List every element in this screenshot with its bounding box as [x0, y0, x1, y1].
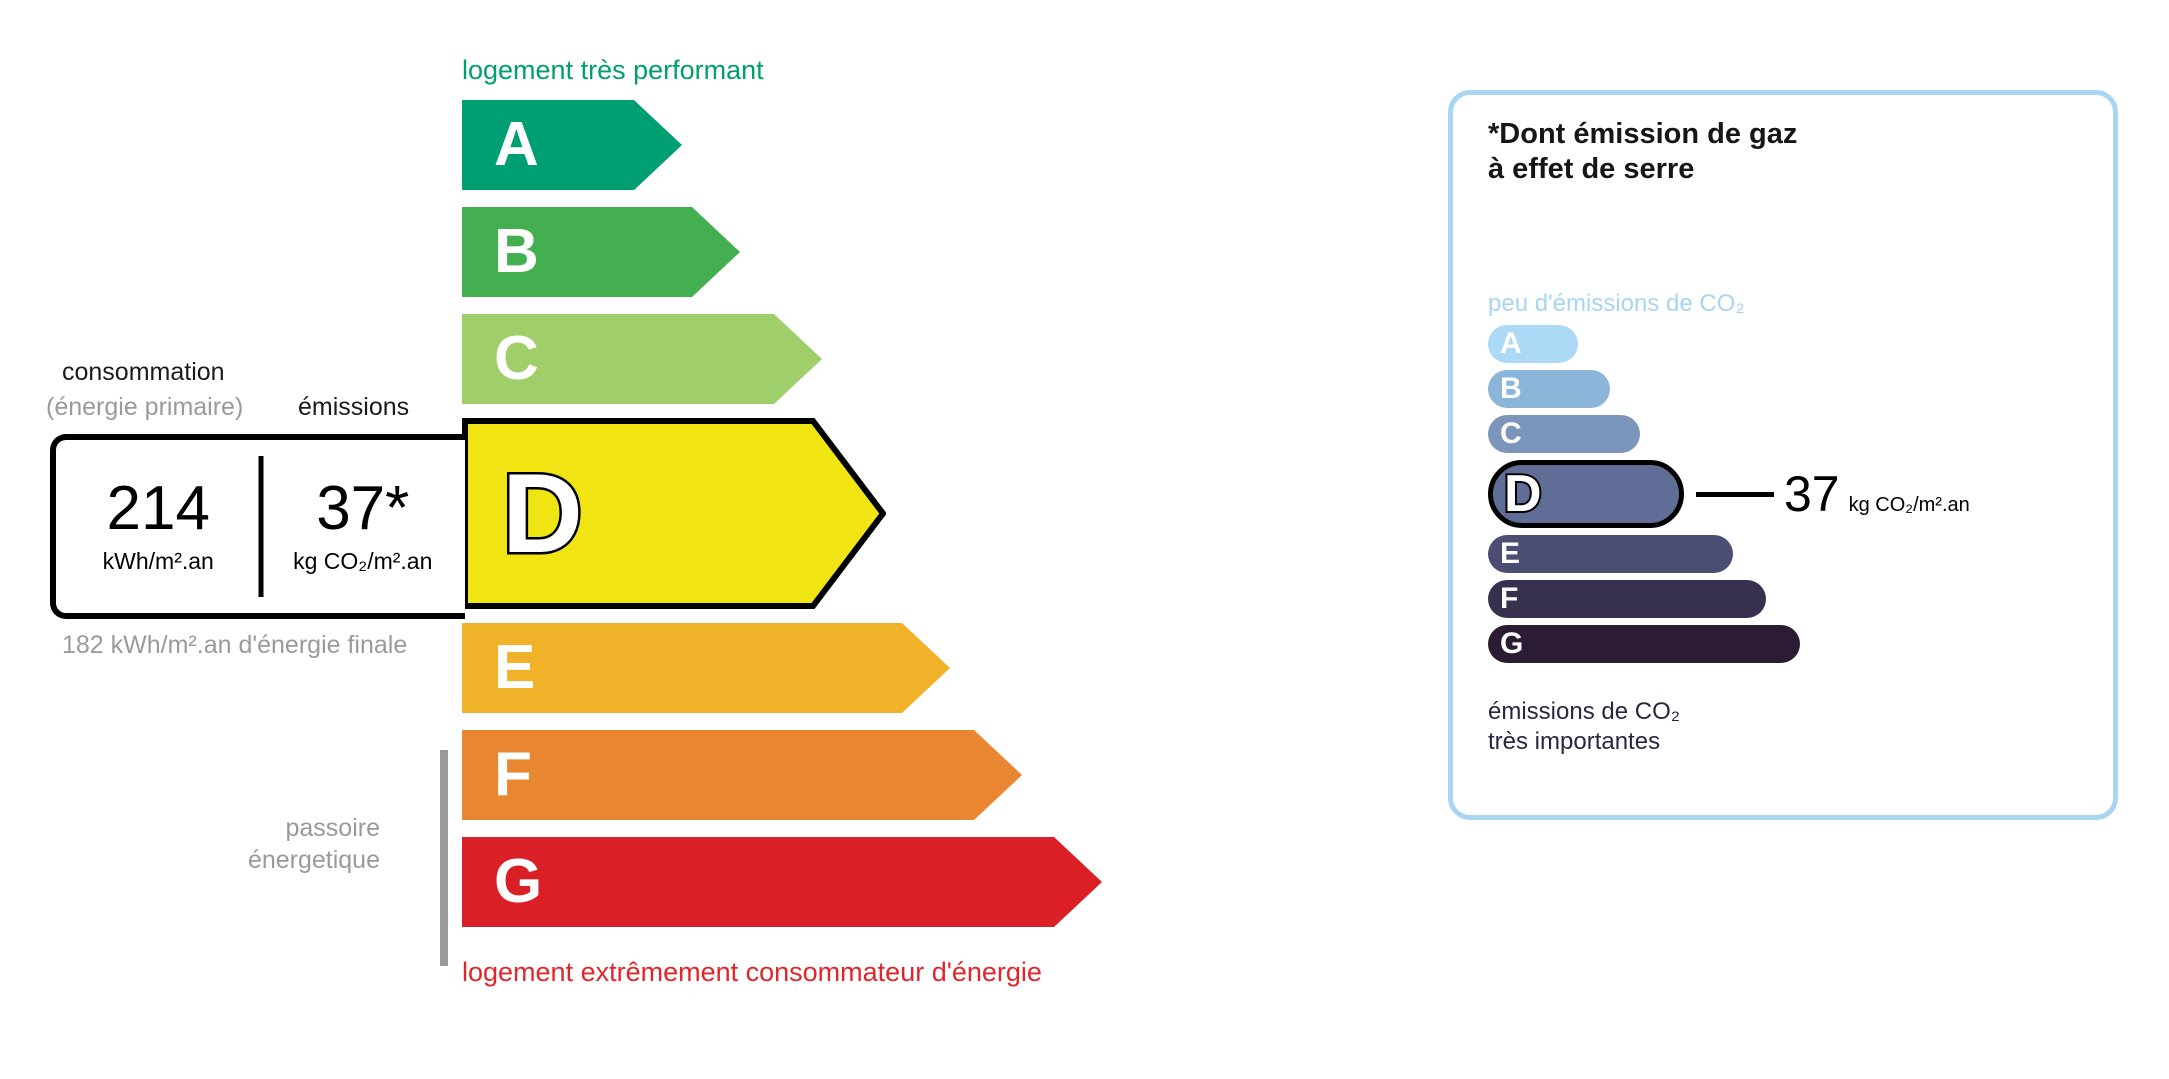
energy-class-letter-G: G [494, 851, 542, 913]
co2-bar-E [1488, 535, 1733, 573]
co2-class-letter-C: C [1500, 419, 1522, 449]
energy-class-letter-C: C [494, 328, 539, 390]
co2-top-caption: peu d'émissions de CO₂ [1488, 290, 1745, 318]
co2-class-letter-D: D [1504, 468, 1542, 520]
co2-callout-line [1696, 492, 1774, 497]
energy-arrow-D: D [462, 421, 886, 606]
energy-arrow-F: F [462, 730, 1022, 820]
energy-class-list: ABCDEFG [462, 100, 1362, 944]
emission-unit: kg CO₂/m².an [293, 548, 432, 575]
energy-class-row-G: G [462, 837, 1362, 927]
co2-panel: *Dont émission de gaz à effet de serre p… [1448, 90, 2118, 820]
co2-class-list: ABCD37kg CO₂/m².anEFG [1488, 325, 2088, 670]
dpe-value-box: 214 kWh/m².an 37* kg CO₂/m².an [50, 434, 465, 619]
emission-value-cell: 37* kg CO₂/m².an [261, 440, 466, 613]
co2-bottom-caption: émissions de CO₂ très importantes [1488, 697, 1680, 757]
energy-class-letter-D: D [502, 458, 583, 570]
label-energie-finale: 182 kWh/m².an d'énergie finale [62, 630, 407, 662]
energy-top-caption: logement très performant [462, 55, 764, 86]
energy-class-row-B: B [462, 207, 1362, 297]
label-energie-primaire: (énergie primaire) [46, 393, 243, 422]
co2-callout-value: 37kg CO₂/m².an [1784, 469, 1970, 519]
co2-class-row-C: C [1488, 415, 2088, 453]
label-consommation: consommation [62, 358, 225, 387]
co2-class-row-D: D37kg CO₂/m².an [1488, 460, 2088, 528]
co2-class-letter-F: F [1500, 584, 1518, 614]
energy-class-letter-B: B [494, 221, 539, 283]
co2-class-letter-E: E [1500, 539, 1520, 569]
energy-arrow-B: B [462, 207, 740, 297]
co2-class-row-F: F [1488, 580, 2088, 618]
co2-bar-G [1488, 625, 1800, 663]
label-passoire-energetique: passoire énergetique [180, 813, 380, 876]
label-emissions: émissions [298, 393, 409, 422]
energy-class-row-F: F [462, 730, 1362, 820]
passoire-indicator-bar [440, 750, 448, 966]
energy-arrow-E: E [462, 623, 950, 713]
consumption-value: 214 [107, 478, 210, 540]
co2-callout-unit: kg CO₂/m².an [1849, 494, 1970, 516]
co2-class-row-G: G [1488, 625, 2088, 663]
energy-class-letter-F: F [494, 744, 532, 806]
energy-bottom-caption: logement extrêmement consommateur d'éner… [462, 957, 1042, 988]
energy-arrow-C: C [462, 314, 822, 404]
co2-bar-F [1488, 580, 1766, 618]
co2-class-letter-B: B [1500, 374, 1522, 404]
energy-arrow-A: A [462, 100, 682, 190]
co2-class-letter-G: G [1500, 629, 1523, 659]
co2-class-row-E: E [1488, 535, 2088, 573]
energy-class-row-D: D [462, 421, 1362, 606]
consumption-value-cell: 214 kWh/m².an [56, 440, 261, 613]
energy-class-letter-E: E [494, 637, 535, 699]
emission-value: 37* [316, 478, 409, 540]
energy-class-row-C: C [462, 314, 1362, 404]
energy-class-row-A: A [462, 100, 1362, 190]
co2-class-row-A: A [1488, 325, 2088, 363]
co2-panel-title: *Dont émission de gaz à effet de serre [1488, 117, 1797, 188]
consumption-unit: kWh/m².an [103, 548, 214, 575]
dpe-energy-panel: logement très performant ABCDEFG logemen… [0, 0, 1400, 1079]
co2-class-row-B: B [1488, 370, 2088, 408]
energy-arrow-G: G [462, 837, 1102, 927]
co2-class-letter-A: A [1500, 329, 1522, 359]
energy-class-letter-A: A [494, 114, 539, 176]
energy-class-row-E: E [462, 623, 1362, 713]
